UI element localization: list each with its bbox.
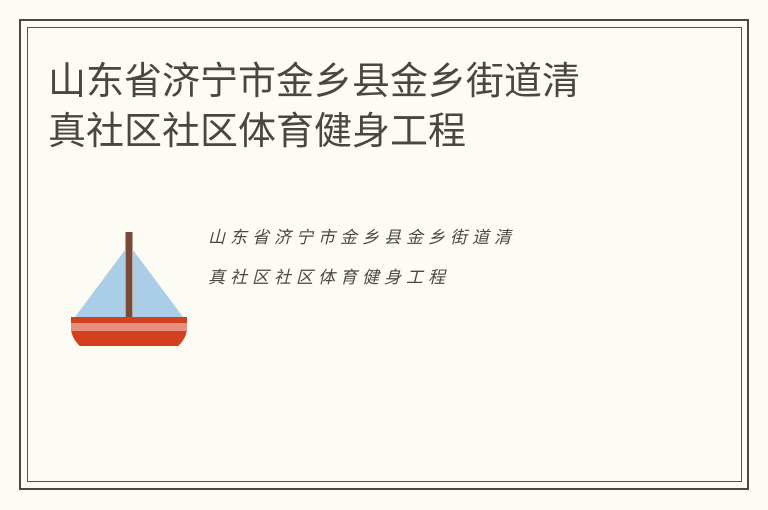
- page-title: 山东省济宁市金乡县金乡街道清 真社区社区体育健身工程: [48, 56, 648, 156]
- hull-shape: [71, 317, 187, 346]
- sailboat-icon: [48, 206, 208, 356]
- caption: 山东省济宁市金乡县金乡街道清 真社区社区体育健身工程: [208, 206, 688, 298]
- page-root: 山东省济宁市金乡县金乡街道清 真社区社区体育健身工程 山东省济宁市金乡县金乡街道…: [0, 0, 768, 510]
- page-title-line-2: 真社区社区体育健身工程: [48, 106, 648, 156]
- sailboat-icon-svg: [63, 216, 193, 346]
- hull-stripe-shape: [71, 323, 187, 331]
- sail-left-shape: [75, 250, 125, 317]
- caption-line-1: 山东省济宁市金乡县金乡街道清: [208, 218, 688, 258]
- caption-line-2: 真社区社区体育健身工程: [208, 258, 688, 298]
- sail-right-shape: [133, 250, 183, 317]
- mast-shape: [126, 232, 133, 322]
- page-title-line-1: 山东省济宁市金乡县金乡街道清: [48, 56, 648, 106]
- content-row: 山东省济宁市金乡县金乡街道清 真社区社区体育健身工程: [48, 206, 688, 356]
